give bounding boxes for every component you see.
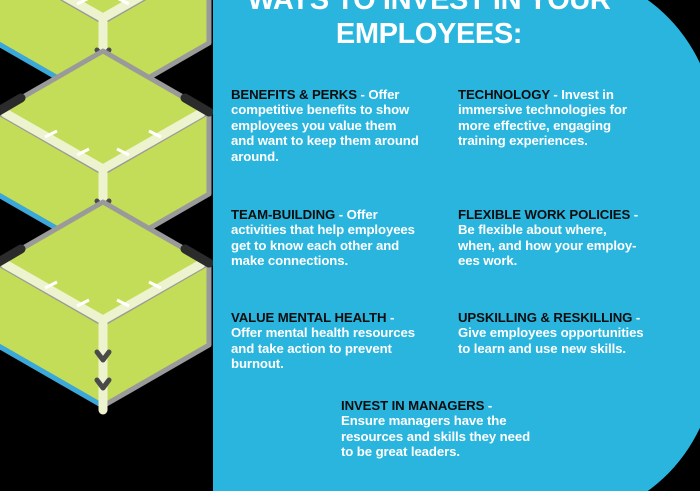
tip-first-line: INVEST IN MANAGERS - — [341, 398, 591, 413]
tip-separator: - — [386, 310, 394, 325]
tip-line: and take action to prevent — [231, 341, 459, 356]
tip-line: Be flexible about where, — [458, 222, 698, 237]
tip-benefits-and-perks: BENEFITS & PERKS - Offer competitive ben… — [231, 87, 459, 164]
tip-line: competitive benefits to show — [231, 102, 459, 117]
tip-line: make connections. — [231, 253, 459, 268]
tip-line: training experiences. — [458, 133, 698, 148]
tip-line: to learn and use new skills. — [458, 341, 698, 356]
tip-line: more effective, engaging — [458, 118, 698, 133]
tip-term: TECHNOLOGY — [458, 87, 550, 102]
tip-line: resources and skills they need — [341, 429, 591, 444]
tip-line: activities that help employees — [231, 222, 459, 237]
headline-line-1: WAYS TO INVEST IN YOUR — [213, 0, 645, 18]
page-title: WAYS TO INVEST IN YOUR EMPLOYEES: — [213, 0, 645, 51]
isometric-cube-stack — [0, 0, 214, 491]
tip-first-line: TEAM-BUILDING - Offer — [231, 207, 459, 222]
tip-first-line: VALUE MENTAL HEALTH - — [231, 310, 459, 325]
tip-technology: TECHNOLOGY - Invest in immersive technol… — [458, 87, 698, 149]
tip-first-line-rest: Offer — [347, 207, 378, 222]
tip-line: ees work. — [458, 253, 698, 268]
tip-line: immersive technologies for — [458, 102, 698, 117]
tip-line: to be great leaders. — [341, 444, 591, 459]
tip-separator: - — [484, 398, 492, 413]
tip-term: UPSKILLING & RESKILLING — [458, 310, 632, 325]
headline-line-2: EMPLOYEES: — [213, 18, 645, 52]
tip-first-line: FLEXIBLE WORK POLICIES - — [458, 207, 698, 222]
tip-separator: - — [335, 207, 346, 222]
tip-line: employees you value them — [231, 118, 459, 133]
tip-value-mental-health: VALUE MENTAL HEALTH - Offer mental healt… — [231, 310, 459, 372]
tip-line: burnout. — [231, 356, 459, 371]
tip-line: Offer mental health resources — [231, 325, 459, 340]
tip-line: get to know each other and — [231, 238, 459, 253]
tip-invest-in-managers: INVEST IN MANAGERS - Ensure managers hav… — [341, 398, 591, 460]
tip-line: when, and how your employ- — [458, 238, 698, 253]
panel-content: WAYS TO INVEST IN YOUR EMPLOYEES: BENEFI… — [213, 0, 700, 491]
tip-line: Ensure managers have the — [341, 413, 591, 428]
tip-team-building: TEAM-BUILDING - Offer activities that he… — [231, 207, 459, 269]
isometric-cube — [0, 184, 214, 424]
tip-upskilling-and-reskilling: UPSKILLING & RESKILLING - Give employees… — [458, 310, 698, 356]
tip-term: VALUE MENTAL HEALTH — [231, 310, 386, 325]
tip-flexible-work-policies: FLEXIBLE WORK POLICIES - Be flexible abo… — [458, 207, 698, 269]
tip-separator: - — [632, 310, 640, 325]
tip-term: FLEXIBLE WORK POLICIES — [458, 207, 630, 222]
tip-separator: - — [630, 207, 638, 222]
tip-first-line-rest: Offer — [368, 87, 399, 102]
tip-separator: - — [357, 87, 368, 102]
tip-line: and want to keep them around — [231, 133, 459, 148]
tip-term: INVEST IN MANAGERS — [341, 398, 484, 413]
tip-term: TEAM-BUILDING — [231, 207, 335, 222]
tip-first-line: UPSKILLING & RESKILLING - — [458, 310, 698, 325]
tip-first-line: TECHNOLOGY - Invest in — [458, 87, 698, 102]
infographic-poster: WAYS TO INVEST IN YOUR EMPLOYEES: BENEFI… — [0, 0, 700, 491]
tip-first-line-rest: Invest in — [561, 87, 614, 102]
tip-line: around. — [231, 149, 459, 164]
tip-line: Give employees opportunities — [458, 325, 698, 340]
tip-first-line: BENEFITS & PERKS - Offer — [231, 87, 459, 102]
tip-separator: - — [550, 87, 561, 102]
tip-term: BENEFITS & PERKS — [231, 87, 357, 102]
